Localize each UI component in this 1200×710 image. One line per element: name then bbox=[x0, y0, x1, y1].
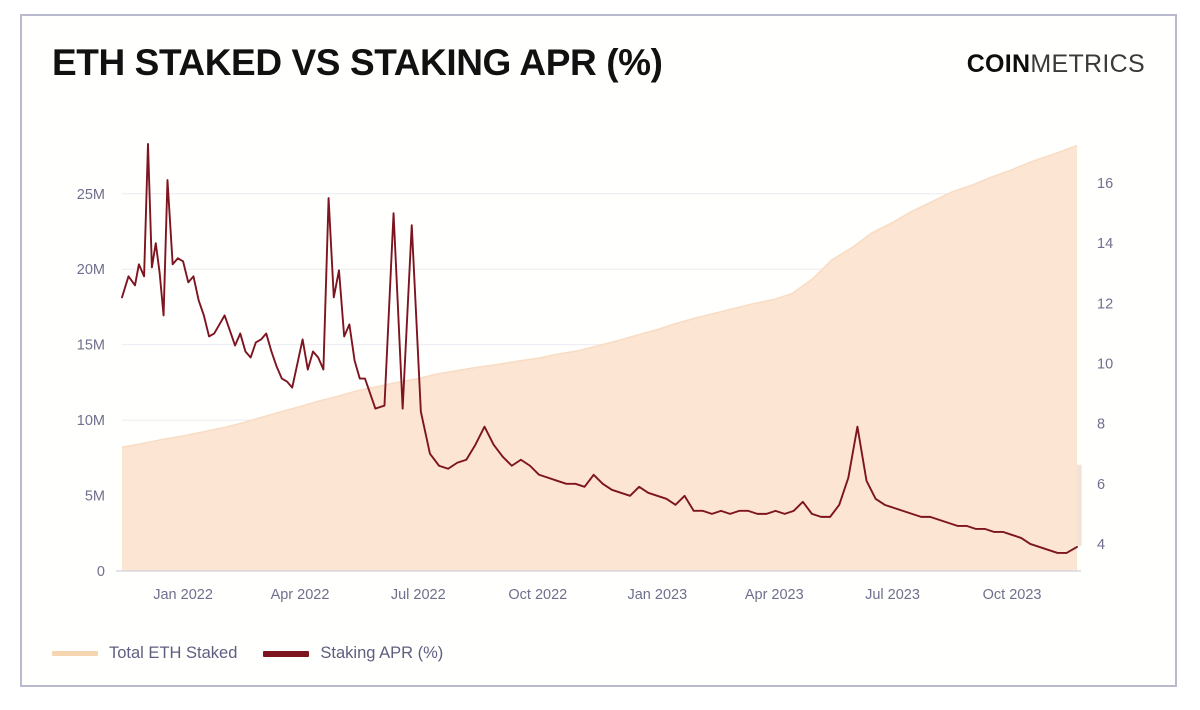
x-axis-tick-label: Jul 2022 bbox=[391, 587, 446, 603]
y-axis-left-tick-label: 15M bbox=[77, 338, 105, 354]
y-axis-right-tick-label: 8 bbox=[1097, 417, 1105, 433]
x-axis-tick-label: Jan 2023 bbox=[627, 587, 687, 603]
area-fill bbox=[122, 146, 1077, 571]
y-axis-left-tick-label: 0 bbox=[97, 564, 105, 580]
chart-svg: CM 05M10M15M20M25M 46810121416 Jan 2022A… bbox=[22, 16, 1179, 689]
plot-area: CM 05M10M15M20M25M 46810121416 Jan 2022A… bbox=[22, 16, 1179, 689]
x-axis-ticks: Jan 2022Apr 2022Jul 2022Oct 2022Jan 2023… bbox=[153, 587, 1041, 603]
legend-label-total-eth-staked: Total ETH Staked bbox=[109, 644, 237, 663]
y-axis-right-ticks: 46810121416 bbox=[1097, 176, 1113, 553]
y-axis-left-tick-label: 10M bbox=[77, 413, 105, 429]
chart-screenshot: ETH STAKED VS STAKING APR (%) COINMETRIC… bbox=[0, 0, 1200, 710]
x-axis-tick-label: Oct 2023 bbox=[983, 587, 1042, 603]
y-axis-left-tick-label: 5M bbox=[85, 489, 105, 505]
x-axis-tick-label: Oct 2022 bbox=[508, 587, 567, 603]
y-axis-left-ticks: 05M10M15M20M25M bbox=[77, 187, 105, 580]
x-axis-tick-label: Jul 2023 bbox=[865, 587, 920, 603]
x-axis-tick-label: Apr 2022 bbox=[271, 587, 330, 603]
x-axis-tick-label: Jan 2022 bbox=[153, 587, 213, 603]
x-axis-tick-label: Apr 2023 bbox=[745, 587, 804, 603]
y-axis-left-tick-label: 25M bbox=[77, 187, 105, 203]
y-axis-right-tick-label: 12 bbox=[1097, 296, 1113, 312]
y-axis-right-tick-label: 14 bbox=[1097, 236, 1113, 252]
y-axis-left-tick-label: 20M bbox=[77, 262, 105, 278]
y-axis-right-tick-label: 6 bbox=[1097, 477, 1105, 493]
legend-label-staking-apr: Staking APR (%) bbox=[320, 644, 443, 663]
legend-item-staking-apr[interactable]: Staking APR (%) bbox=[263, 644, 443, 663]
chart-card-frame: ETH STAKED VS STAKING APR (%) COINMETRIC… bbox=[20, 14, 1177, 687]
y-axis-right-tick-label: 16 bbox=[1097, 176, 1113, 192]
y-axis-right-tick-label: 4 bbox=[1097, 537, 1105, 553]
series-total-eth-staked bbox=[122, 146, 1077, 571]
y-axis-right-tick-label: 10 bbox=[1097, 357, 1113, 373]
chart-legend: Total ETH Staked Staking APR (%) bbox=[52, 644, 443, 663]
legend-swatch-area-icon bbox=[52, 651, 98, 656]
legend-swatch-line-icon bbox=[263, 651, 309, 657]
legend-item-total-eth-staked[interactable]: Total ETH Staked bbox=[52, 644, 237, 663]
